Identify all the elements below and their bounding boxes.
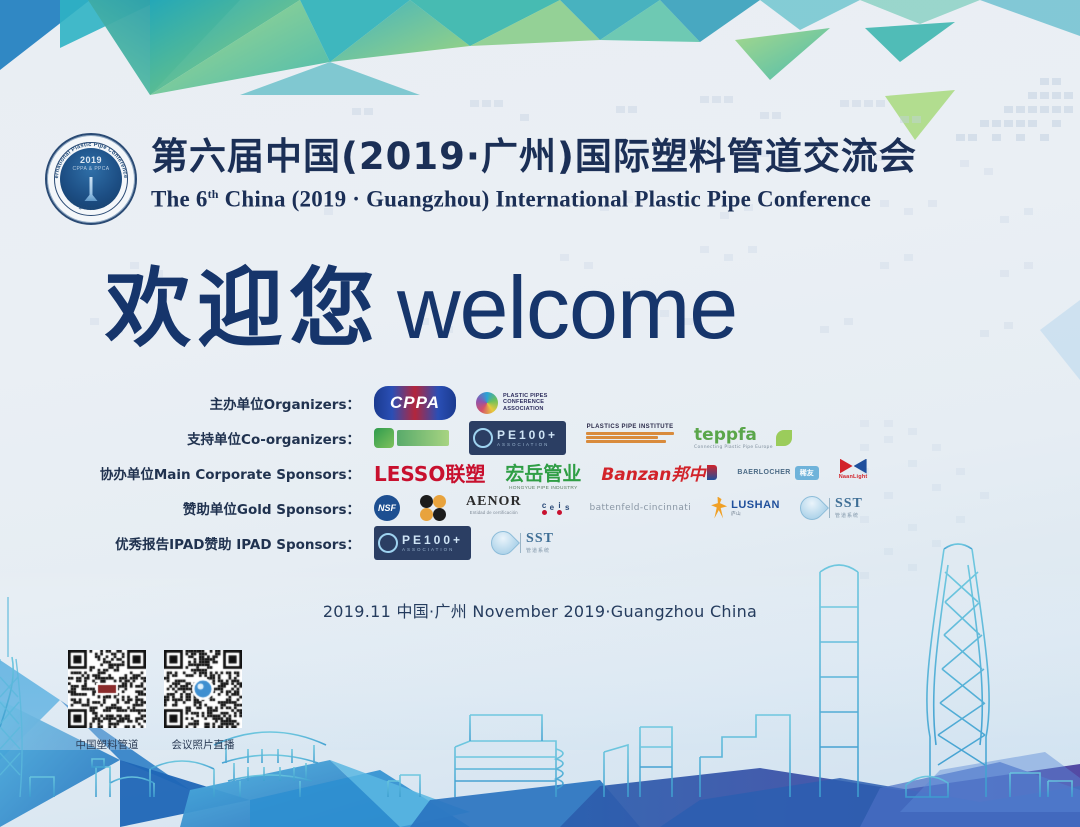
conference-emblem-icon: 2019 CPPA & PPCA International Plastic P… (45, 133, 137, 225)
page-subtitle: The 6th China (2019 · Guangzhou) Interna… (151, 181, 917, 213)
svg-text:Guangzhou · China: Guangzhou · China (65, 195, 118, 212)
qr-china-plastic-pipe[interactable]: 中国塑料管道 (68, 650, 146, 752)
banner-header: 2019 CPPA & PPCA International Plastic P… (45, 133, 1035, 225)
emblem-ring-text: International Plastic Pipe Conference VI… (45, 133, 137, 225)
welcome-text-en: welcome (397, 258, 737, 357)
welcome-heading: 欢迎您welcome (105, 238, 737, 363)
welcome-text-cn: 欢迎您 (105, 259, 381, 359)
qr-china-plastic-pipe-image[interactable] (68, 650, 146, 728)
guangzhou-skyline-illustration (0, 397, 1080, 827)
svg-text:International Plastic Pipe Con: International Plastic Pipe Conference VI (45, 133, 128, 179)
qr-code-group: 中国塑料管道 会议照片直播 (68, 650, 242, 752)
qr-conference-photo-live[interactable]: 会议照片直播 (164, 650, 242, 752)
qr-conference-photo-live-image[interactable] (164, 650, 242, 728)
qr-label: 中国塑料管道 (68, 737, 146, 752)
qr-label: 会议照片直播 (164, 737, 242, 752)
page-title: 第六届中国(2019·广州)国际塑料管道交流会 (151, 135, 917, 179)
conference-welcome-banner: 2019 CPPA & PPCA International Plastic P… (0, 0, 1080, 827)
